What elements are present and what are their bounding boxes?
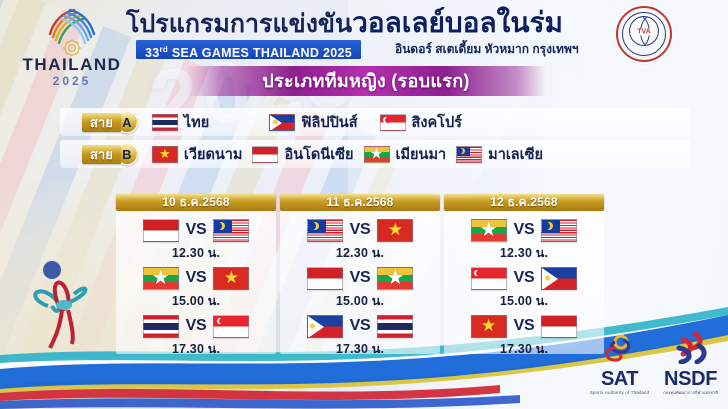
match-row: VS 12.30 น. — [444, 217, 604, 263]
category-label: ประเภททีมหญิง (รอบแรก) — [186, 66, 546, 96]
flag-philippines-icon — [269, 114, 295, 131]
vs-label: VS — [350, 221, 371, 239]
poster-canvas: 2025 — [0, 0, 728, 409]
mascot-ribbon-decoration — [18, 248, 128, 358]
flag-thailand-icon — [143, 315, 179, 338]
flag-myanmar-icon — [364, 146, 390, 163]
flag-malaysia-icon — [307, 219, 343, 242]
vs-label: VS — [186, 221, 207, 239]
sat-subtitle: Sports Authority of Thailand — [590, 390, 649, 395]
flag-malaysia-icon — [456, 146, 482, 163]
vs-label: VS — [350, 317, 371, 335]
flag-singapore-icon — [213, 315, 249, 338]
group-b-team-4: มาเลเซีย — [456, 143, 543, 166]
group-b-team-4-label: มาเลเซีย — [488, 143, 543, 166]
match-row: VS 15.00 น. — [116, 265, 276, 311]
group-a-badge-label: สาย — [82, 113, 121, 132]
flag-singapore-icon — [380, 114, 406, 131]
group-a-team-2-label: ฟิลิปปินส์ — [301, 111, 357, 134]
schedule-date-3: 12 ธ.ค.2568 — [444, 194, 604, 211]
vs-label: VS — [186, 317, 207, 335]
flag-vietnam-icon — [377, 219, 413, 242]
group-b-team-1: เวียดนาม — [152, 143, 243, 166]
flag-vietnam-icon — [152, 146, 178, 163]
match-time: 12.30 น. — [280, 243, 440, 263]
group-b-team-2: อินโดนีเซีย — [252, 143, 353, 166]
flag-philippines-icon — [307, 315, 343, 338]
sea-games-logo: THAILAND 2025 — [18, 4, 126, 88]
match-time: 15.00 น. — [116, 291, 276, 311]
group-b-badge-label: สาย — [82, 145, 121, 164]
group-row-b: สาย B เวียดนาม อินโดนีเซีย เมียนมา มาเลเ… — [60, 140, 543, 168]
nsdf-abbr: NSDF — [663, 369, 718, 389]
schedule-date-2: 11 ธ.ค.2568 — [280, 194, 440, 211]
match-row: VS 15.00 น. — [280, 265, 440, 311]
vs-label: VS — [186, 269, 207, 287]
match-row: VS 12.30 น. — [280, 217, 440, 263]
logo-year-label: 2025 — [18, 74, 126, 88]
sat-abbr: SAT — [590, 369, 649, 389]
match-row: VS 17.30 น. — [116, 313, 276, 359]
match-time: 12.30 น. — [116, 243, 276, 263]
group-a-team-1-label: ไทย — [184, 111, 209, 134]
flag-myanmar-icon — [471, 219, 507, 242]
tva-abbr-label: TVA — [635, 29, 652, 36]
nsdf-subtitle: กองทุนพัฒนาการกีฬาแห่งชาติ — [663, 390, 718, 395]
games-number: 33 — [145, 46, 160, 60]
venue-label: อินดอร์ สเตเดี้ยม หัวหมาก กรุงเทพฯ — [395, 40, 579, 59]
flag-indonesia-icon — [252, 146, 278, 163]
title-bold-part: วอลเลย์บอลในร่ม — [352, 7, 563, 38]
tva-association-logo: TVA — [616, 6, 672, 62]
match-row: VS 17.30 น. — [280, 313, 440, 359]
flag-vietnam-icon — [213, 267, 249, 290]
flag-thailand-icon — [377, 315, 413, 338]
sat-emblem-icon — [593, 334, 645, 364]
flag-singapore-icon — [471, 267, 507, 290]
schedule-panel-day-3: 12 ธ.ค.2568 VS 12.30 น. VS 15.00 น. — [444, 194, 604, 354]
flag-myanmar-icon — [143, 267, 179, 290]
games-name: SEA GAMES THAILAND 2025 — [168, 46, 352, 60]
match-time: 17.30 น. — [280, 339, 440, 359]
match-time: 17.30 น. — [444, 339, 604, 359]
vs-label: VS — [514, 221, 535, 239]
vs-label: VS — [514, 269, 535, 287]
match-time: 12.30 น. — [444, 243, 604, 263]
match-row: VS 15.00 น. — [444, 265, 604, 311]
flag-thailand-icon — [152, 114, 178, 131]
sea-games-emblem-icon — [36, 4, 108, 56]
group-a-team-3: สิงคโปร์ — [380, 111, 462, 134]
games-ordinal-suffix: rd — [160, 45, 169, 54]
nsdf-emblem-icon — [669, 332, 713, 364]
group-a-team-3-label: สิงคโปร์ — [412, 111, 462, 134]
vs-label: VS — [350, 269, 371, 287]
group-b-team-3: เมียนมา — [364, 143, 447, 166]
group-b-team-1-label: เวียดนาม — [184, 143, 243, 166]
match-row: VS 12.30 น. — [116, 217, 276, 263]
sponsor-logos: SAT Sports Authority of Thailand NSDF กอ… — [590, 332, 718, 395]
sat-logo: SAT Sports Authority of Thailand — [590, 334, 649, 395]
flag-indonesia-icon — [541, 315, 577, 338]
page-title: โปรแกรมการแข่งขันวอลเลย์บอลในร่ม — [126, 6, 546, 40]
match-time: 17.30 น. — [116, 339, 276, 359]
schedule-panel-day-2: 11 ธ.ค.2568 VS 12.30 น. VS 15.00 น. — [280, 194, 440, 354]
flag-malaysia-icon — [541, 219, 577, 242]
vs-label: VS — [514, 317, 535, 335]
flag-vietnam-icon — [471, 315, 507, 338]
group-b-team-3-label: เมียนมา — [396, 143, 447, 166]
nsdf-logo: NSDF กองทุนพัฒนาการกีฬาแห่งชาติ — [663, 332, 718, 395]
flag-indonesia-icon — [307, 267, 343, 290]
match-time: 15.00 น. — [280, 291, 440, 311]
match-time: 15.00 น. — [444, 291, 604, 311]
games-subtitle-bar: 33rd SEA GAMES THAILAND 2025 — [136, 40, 361, 59]
group-b-team-2-label: อินโดนีเซีย — [284, 143, 353, 166]
title-regular-part: โปรแกรมการแข่งขัน — [126, 10, 352, 38]
schedule-panel-day-1: 10 ธ.ค.2568 VS 12.30 น. VS 15.00 น. — [116, 194, 276, 354]
match-row: VS 17.30 น. — [444, 313, 604, 359]
flag-myanmar-icon — [377, 267, 413, 290]
category-banner: ประเภททีมหญิง (รอบแรก) — [186, 66, 546, 96]
flag-philippines-icon — [541, 267, 577, 290]
group-row-a: สาย A ไทย ฟิลิปปินส์ สิงคโปร์ — [60, 108, 462, 136]
schedule-date-1: 10 ธ.ค.2568 — [116, 194, 276, 211]
group-a-team-1: ไทย — [152, 111, 209, 134]
flag-malaysia-icon — [213, 219, 249, 242]
flag-indonesia-icon — [143, 219, 179, 242]
group-a-team-2: ฟิลิปปินส์ — [269, 111, 357, 134]
logo-country-label: THAILAND — [18, 56, 126, 73]
